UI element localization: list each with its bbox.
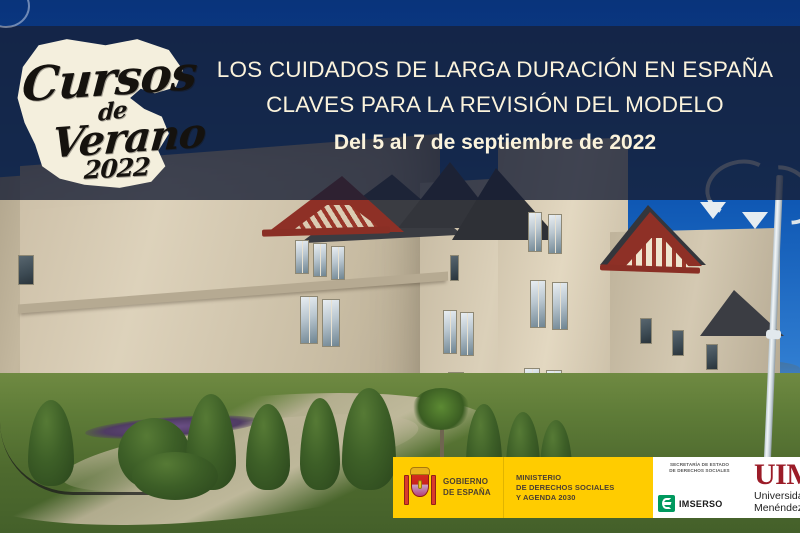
window bbox=[295, 240, 309, 274]
window bbox=[706, 344, 718, 370]
lamp-post-knob bbox=[766, 330, 781, 340]
window bbox=[443, 310, 457, 354]
top-strip-overlay bbox=[0, 0, 800, 26]
window bbox=[450, 255, 459, 281]
coat-crown bbox=[410, 467, 430, 475]
ministerio-label: MINISTERIO DE DERECHOS SOCIALES Y AGENDA… bbox=[516, 473, 614, 503]
window bbox=[552, 282, 568, 330]
window bbox=[640, 318, 652, 344]
institutional-logo-bar: GOBIERNO DE ESPAÑA MINISTERIO DE DERECHO… bbox=[393, 457, 800, 518]
lamp-head-right bbox=[742, 212, 768, 229]
gobierno-line-1: GOBIERNO bbox=[443, 477, 491, 488]
ministerio-line-2: DE DERECHOS SOCIALES bbox=[516, 483, 614, 493]
shrub bbox=[132, 452, 218, 500]
window bbox=[313, 243, 327, 277]
uimp-logo: UIMP Universidad Internacional Menéndez … bbox=[745, 457, 800, 518]
secretaria-line-2: DE DERECHOS SOCIALES bbox=[658, 468, 741, 474]
window bbox=[460, 312, 474, 356]
event-poster: Cursos de Verano 2022 LOS CUIDADOS DE LA… bbox=[0, 0, 800, 533]
window bbox=[331, 246, 345, 280]
coat-pillar-left bbox=[404, 475, 409, 505]
gobierno-line-2: DE ESPAÑA bbox=[443, 488, 491, 499]
imserso-wordmark: IMSERSO bbox=[679, 499, 723, 509]
event-dates: Del 5 al 7 de septiembre de 2022 bbox=[190, 126, 800, 160]
window bbox=[300, 296, 318, 344]
ministerio-logo: MINISTERIO DE DERECHOS SOCIALES Y AGENDA… bbox=[503, 457, 653, 518]
window bbox=[528, 212, 542, 252]
gobierno-label: GOBIERNO DE ESPAÑA bbox=[443, 477, 491, 498]
coat-shield bbox=[411, 473, 429, 497]
lamp-head-left bbox=[700, 202, 726, 219]
window bbox=[530, 280, 546, 328]
ministerio-line-1: MINISTERIO bbox=[516, 473, 614, 483]
gobierno-de-espana-logo: GOBIERNO DE ESPAÑA bbox=[393, 457, 503, 518]
logo-year: 2022 bbox=[83, 152, 150, 185]
uimp-name-line-1: Universidad Internacional bbox=[754, 490, 800, 503]
uimp-name: Universidad Internacional Menéndez Pelay… bbox=[754, 490, 800, 515]
window bbox=[548, 214, 562, 254]
imserso-mark-icon bbox=[658, 495, 675, 512]
title-line-1: LOS CUIDADOS DE LARGA DURACIÓN EN ESPAÑA bbox=[190, 52, 800, 87]
window bbox=[322, 299, 340, 347]
ministerio-line-3: Y AGENDA 2030 bbox=[516, 493, 614, 503]
escudo-de-espana-icon bbox=[404, 467, 436, 509]
uimp-name-line-2: Menéndez Pelayo bbox=[754, 502, 800, 515]
uimp-acronym: UIMP bbox=[754, 460, 800, 489]
coat-pillar-right bbox=[431, 475, 436, 505]
palm-crown bbox=[412, 388, 470, 430]
imserso-logo: SECRETARÍA DE ESTADO DE DERECHOS SOCIALE… bbox=[653, 457, 745, 518]
title-line-2: CLAVES PARA LA REVISIÓN DEL MODELO bbox=[190, 87, 800, 122]
secretaria-label: SECRETARÍA DE ESTADO DE DERECHOS SOCIALE… bbox=[658, 462, 741, 474]
window bbox=[18, 255, 34, 285]
poster-title-block: LOS CUIDADOS DE LARGA DURACIÓN EN ESPAÑA… bbox=[190, 52, 800, 160]
cursos-de-verano-logo: Cursos de Verano 2022 bbox=[14, 36, 190, 191]
imserso-brand-row: IMSERSO bbox=[658, 495, 741, 512]
window bbox=[672, 330, 684, 356]
